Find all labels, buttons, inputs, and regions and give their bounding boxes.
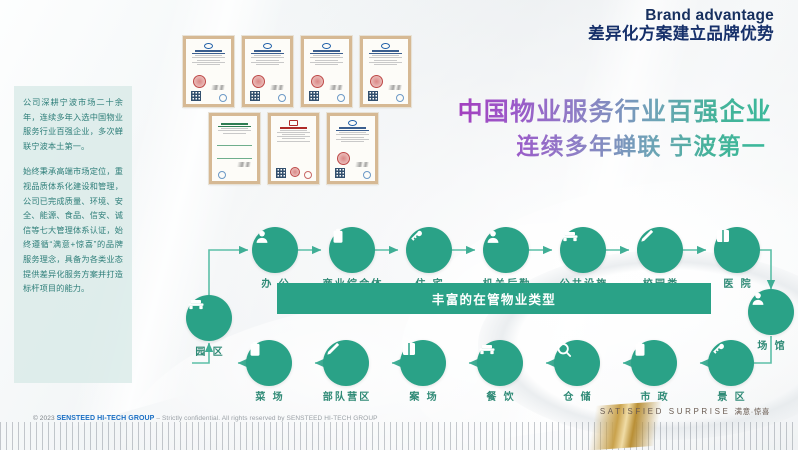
signature-icon — [387, 85, 403, 90]
signature-icon — [210, 85, 226, 90]
signature-icon — [328, 85, 344, 90]
pencil-icon — [637, 227, 683, 273]
page-title: 中国物业服务行业百强企业 连续多年蝉联 宁波第一 — [458, 96, 772, 163]
flow-node-label: 医 院 — [721, 275, 753, 290]
flow-node-label: 案 场 — [407, 388, 439, 403]
flow-node-commercial-complex[interactable]: 商业综合体 — [329, 227, 375, 273]
flow-node-label: 餐 饮 — [484, 388, 516, 403]
secondary-seal-icon — [396, 94, 404, 102]
flow-center-banner-label: 丰富的在管物业类型 — [432, 289, 556, 308]
building-icon — [186, 295, 232, 341]
flow-center-banner: 丰富的在管物业类型 — [277, 283, 711, 314]
copyright-company: SENSTEED HI-TECH GROUP — [57, 415, 155, 422]
red-seal-icon — [193, 75, 206, 88]
footer-slogan-cn: 满意·惊喜 — [735, 407, 771, 416]
certificate-image — [209, 113, 260, 184]
person-icon — [483, 227, 529, 273]
slide-canvas: Brand advantage 差异化方案建立品牌优势 中国物业服务行业百强企业… — [0, 0, 798, 450]
certificate-image — [268, 113, 319, 184]
headline-line-1: 中国物业服务行业百强企业 — [458, 96, 772, 130]
qr-code-icon — [309, 91, 319, 101]
certification-logo-icon — [263, 43, 272, 49]
red-seal-icon — [290, 167, 300, 177]
certificate-image — [242, 36, 293, 107]
secondary-seal-icon — [304, 171, 312, 179]
key-icon — [406, 227, 452, 273]
description-paragraph-1: 公司深耕宁波市场二十余年，连续多年入选中国物业服务行业百强企业，多次蝉联宁波本土… — [23, 96, 123, 154]
certification-logo-icon — [289, 120, 298, 126]
person-icon — [252, 227, 298, 273]
certificate-row-1 — [183, 36, 423, 107]
pencil-icon — [323, 340, 369, 386]
secondary-seal-icon — [218, 171, 226, 179]
signature-icon — [236, 162, 252, 167]
flow-node-venue[interactable]: 场 馆 — [748, 289, 794, 335]
certificate-image — [327, 113, 378, 184]
flow-node-label: 场 馆 — [755, 337, 787, 352]
flow-node-municipal[interactable]: 市 政 — [631, 340, 677, 386]
clipboard-icon — [631, 340, 677, 386]
secondary-seal-icon — [219, 94, 227, 102]
qr-code-icon — [191, 91, 201, 101]
clipboard-icon — [329, 227, 375, 273]
footer-slogan-en: SATISFIED SURPRISE — [600, 407, 731, 416]
secondary-seal-icon — [363, 171, 371, 179]
red-seal-icon — [370, 75, 383, 88]
copyright-confidential-note: – Strictly confidential. All rights rese… — [156, 415, 377, 422]
flow-node-office[interactable]: 办 公 — [252, 227, 298, 273]
book-icon — [400, 340, 446, 386]
certification-logo-icon — [322, 43, 331, 49]
flow-node-sales-office[interactable]: 案 场 — [400, 340, 446, 386]
certificate-gallery — [183, 36, 423, 191]
clipboard-icon — [246, 340, 292, 386]
certificate-image — [360, 36, 411, 107]
flow-node-public-facility[interactable]: 公共设施 — [560, 227, 606, 273]
flow-node-residence[interactable]: 住 宅 — [406, 227, 452, 273]
book-icon — [714, 227, 760, 273]
certificate-image — [301, 36, 352, 107]
flow-node-hospital[interactable]: 医 院 — [714, 227, 760, 273]
flow-node-market[interactable]: 菜 场 — [246, 340, 292, 386]
qr-code-icon — [335, 168, 345, 178]
building-icon — [477, 340, 523, 386]
footer-stripe-pattern — [0, 422, 798, 450]
copyright-year: © 2023 — [33, 415, 55, 422]
certification-logo-icon — [348, 120, 357, 126]
flow-node-warehouse[interactable]: 仓 储 — [554, 340, 600, 386]
signature-icon — [354, 162, 370, 167]
flow-node-label: 市 政 — [638, 388, 670, 403]
flow-node-campus[interactable]: 校园类 — [637, 227, 683, 273]
slide-header: Brand advantage 差异化方案建立品牌优势 — [588, 6, 774, 45]
flow-node-catering[interactable]: 餐 饮 — [477, 340, 523, 386]
red-seal-icon — [252, 75, 265, 88]
flow-node-park[interactable]: 园 区 — [186, 295, 232, 341]
signature-icon — [269, 85, 285, 90]
flow-node-label: 园 区 — [193, 343, 225, 358]
header-cn-title: 差异化方案建立品牌优势 — [588, 24, 774, 45]
footer-slogan: SATISFIED SURPRISE满意·惊喜 — [600, 406, 770, 417]
search-icon — [554, 340, 600, 386]
certificate-image — [183, 36, 234, 107]
flow-node-label: 景 区 — [715, 388, 747, 403]
flow-node-government-logistics[interactable]: 机关后勤 — [483, 227, 529, 273]
secondary-seal-icon — [337, 94, 345, 102]
qr-code-icon — [250, 91, 260, 101]
secondary-seal-icon — [278, 94, 286, 102]
person-icon — [748, 289, 794, 335]
flow-node-label: 仓 储 — [561, 388, 593, 403]
qr-code-icon — [368, 91, 378, 101]
flow-node-scenic-area[interactable]: 景 区 — [708, 340, 754, 386]
building-icon — [560, 227, 606, 273]
red-seal-icon — [337, 152, 350, 165]
certificate-row-2 — [209, 113, 423, 184]
flow-node-label: 部队营区 — [321, 388, 372, 403]
qr-code-icon — [276, 168, 286, 178]
headline-line-2: 连续多年蝉联 宁波第一 — [458, 130, 766, 163]
header-en-title: Brand advantage — [588, 6, 774, 25]
footer-copyright: © 2023 SENSTEED HI-TECH GROUP – Strictly… — [33, 415, 378, 422]
certification-logo-icon — [204, 43, 213, 49]
flow-node-military-camp[interactable]: 部队营区 — [323, 340, 369, 386]
red-seal-icon — [311, 75, 324, 88]
flow-node-label: 菜 场 — [253, 388, 285, 403]
key-icon — [708, 340, 754, 386]
certification-logo-icon — [381, 43, 390, 49]
